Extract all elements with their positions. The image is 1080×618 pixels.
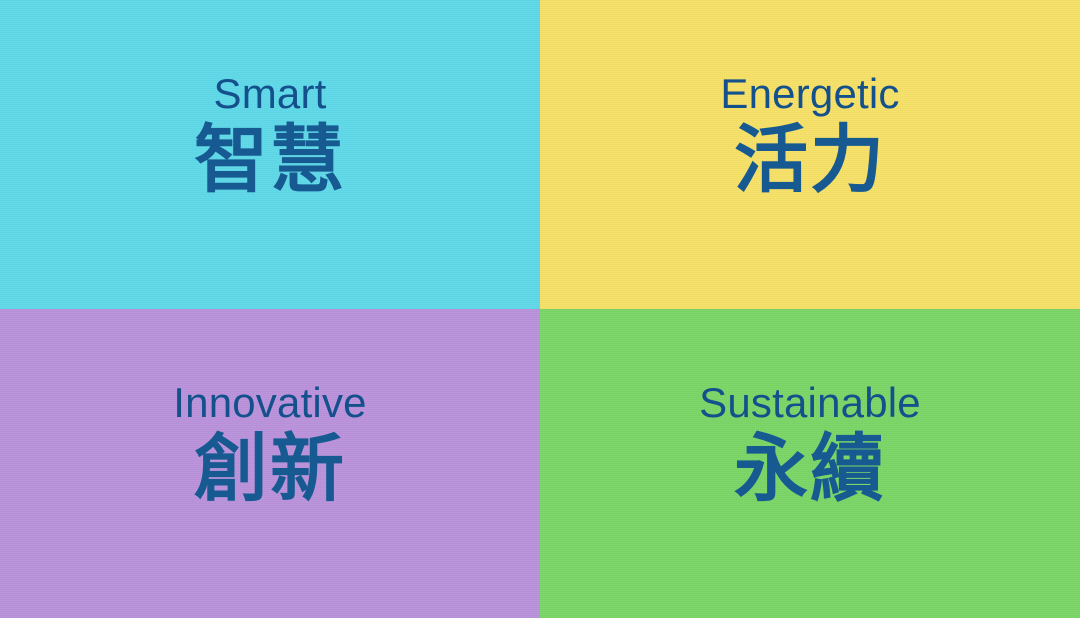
- quadrant-energetic-label-zh: 活力: [734, 121, 886, 201]
- quadrant-sustainable: Sustainable 永續: [540, 309, 1080, 618]
- quadrant-smart: Smart 智慧: [0, 0, 540, 309]
- quadrant-sustainable-label-zh: 永續: [734, 430, 886, 510]
- quadrant-energetic: Energetic 活力: [540, 0, 1080, 309]
- quadrant-sustainable-label-en: Sustainable: [699, 382, 921, 424]
- quadrant-smart-label-zh: 智慧: [194, 121, 346, 201]
- quadrant-smart-label-en: Smart: [213, 73, 326, 115]
- quadrant-energetic-label-en: Energetic: [720, 73, 899, 115]
- quadrant-innovative-label-zh: 創新: [194, 430, 346, 510]
- quadrant-smart-text-block: Smart 智慧: [194, 73, 346, 201]
- quadrant-sustainable-text-block: Sustainable 永續: [699, 382, 921, 510]
- brand-value-poster: Smart 智慧 Energetic 活力 Innovative 創新 Sust…: [0, 0, 1080, 618]
- quadrant-energetic-text-block: Energetic 活力: [720, 73, 899, 201]
- quadrant-innovative-text-block: Innovative 創新: [173, 382, 366, 510]
- quadrant-innovative: Innovative 創新: [0, 309, 540, 618]
- quadrant-innovative-label-en: Innovative: [173, 382, 366, 424]
